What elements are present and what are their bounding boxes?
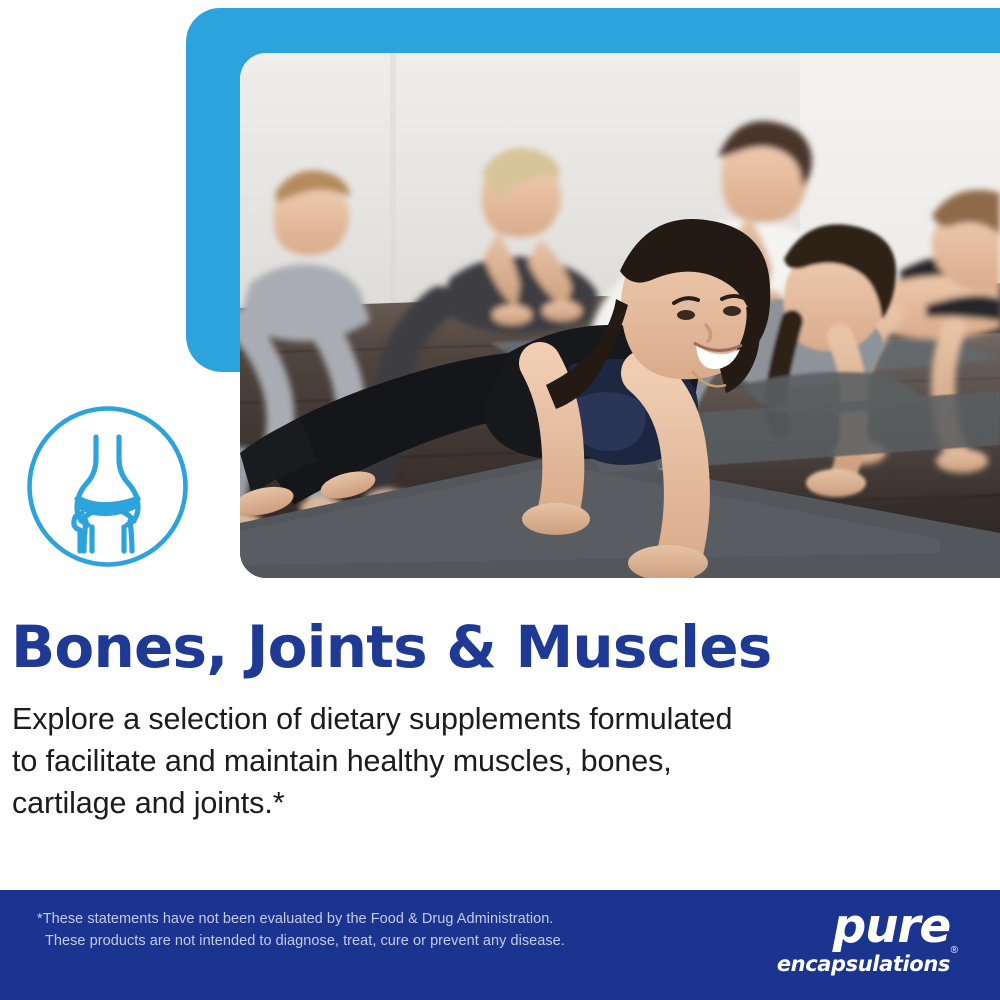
brand-wordmark-secondary-wrap: encapsulations ® — [741, 951, 956, 977]
brand-wordmark-primary: pure — [741, 903, 956, 951]
brand-wordmark-secondary: encapsulations — [777, 952, 950, 976]
subtitle-line-2: to facilitate and maintain healthy muscl… — [12, 740, 942, 782]
knee-joint-icon — [24, 403, 191, 570]
subtitle-line-1: Explore a selection of dietary supplemen… — [12, 698, 942, 740]
pure-encapsulations-logo: pure encapsulations ® — [741, 903, 956, 977]
hero-photo — [240, 53, 1000, 578]
subtitle-line-3: cartilage and joints.* — [12, 782, 942, 824]
registered-trademark-icon: ® — [951, 945, 958, 956]
promo-banner: Bones, Joints & Muscles Explore a select… — [0, 0, 1000, 1000]
page-subtitle: Explore a selection of dietary supplemen… — [12, 698, 942, 824]
copy-block: Bones, Joints & Muscles Explore a select… — [11, 614, 961, 824]
disclaimer-line-2: These products are not intended to diagn… — [37, 930, 565, 952]
footer-bar: *These statements have not been evaluate… — [0, 890, 1000, 1000]
fda-disclaimer: *These statements have not been evaluate… — [37, 908, 565, 952]
disclaimer-line-1: *These statements have not been evaluate… — [37, 908, 565, 930]
page-title: Bones, Joints & Muscles — [11, 614, 961, 680]
